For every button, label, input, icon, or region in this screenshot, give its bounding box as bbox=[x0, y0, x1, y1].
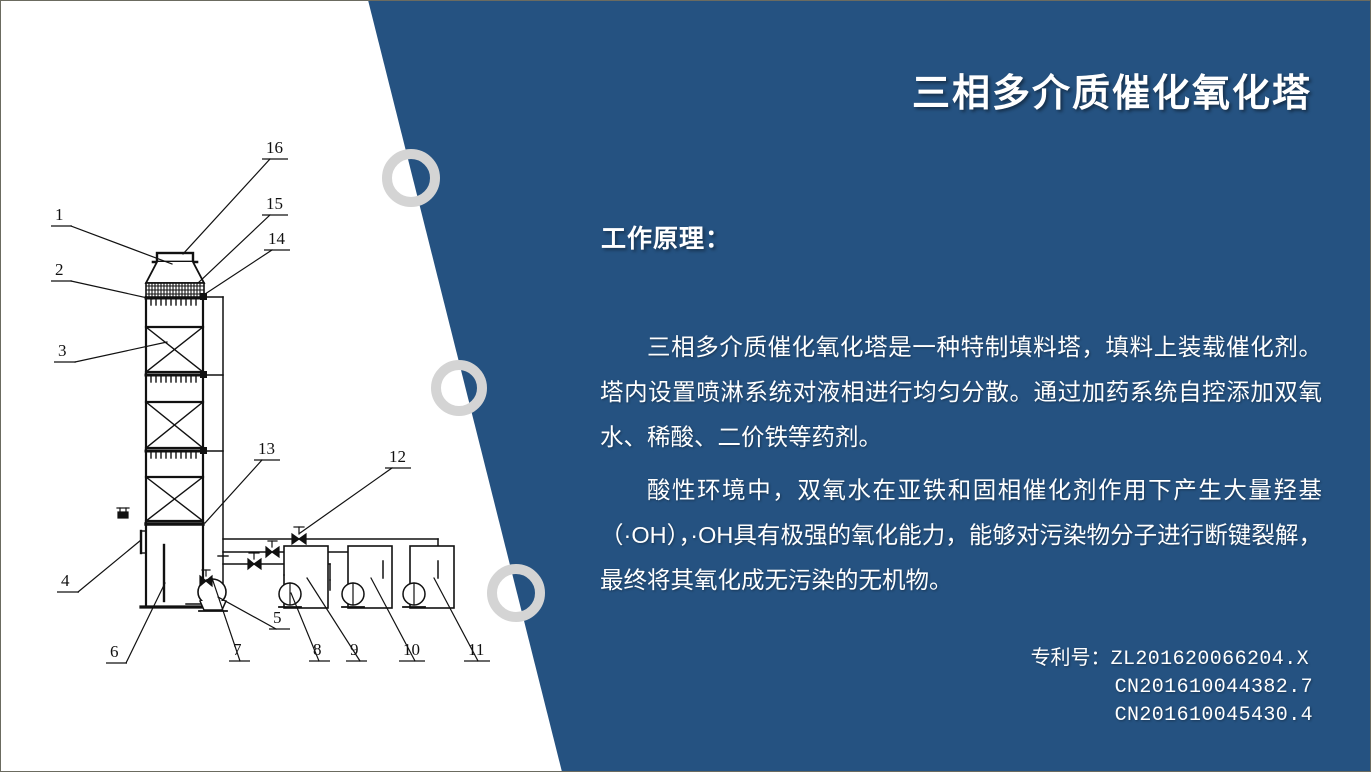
pipe-tee bbox=[200, 447, 207, 454]
process-flow-diagram: 1 2 3 4 5 6 7 8 9 10 11 12 13 14 15 16 bbox=[0, 0, 600, 772]
svg-text:5: 5 bbox=[273, 608, 282, 627]
diagram-label: 13 bbox=[254, 439, 280, 460]
svg-text:3: 3 bbox=[58, 341, 67, 360]
spray-header bbox=[146, 375, 204, 382]
diagram-label: 8 bbox=[309, 640, 330, 661]
diagram-label: 11 bbox=[464, 640, 490, 661]
diagram-label: 15 bbox=[262, 194, 288, 215]
svg-text:10: 10 bbox=[403, 640, 420, 659]
body-paragraph-1: 三相多介质催化氧化塔是一种特制填料塔，填料上装载催化剂。塔内设置喷淋系统对液相进… bbox=[600, 325, 1322, 460]
patent-numbers: 专利号：ZL201620066204.X CN201610044382.7 CN… bbox=[1031, 645, 1313, 729]
patent-row-3: CN201610045430.4 bbox=[1031, 701, 1313, 729]
diagram-label: 3 bbox=[54, 341, 76, 362]
tower-conical-head bbox=[146, 262, 204, 283]
svg-text:2: 2 bbox=[55, 260, 64, 279]
patent-number: ZL201620066204.X bbox=[1111, 648, 1309, 671]
svg-text:1: 1 bbox=[55, 205, 64, 224]
diagram-label: 5 bbox=[269, 608, 290, 629]
packing-bed bbox=[146, 327, 203, 372]
patent-label: 专利号： bbox=[1031, 647, 1111, 669]
svg-text:12: 12 bbox=[389, 447, 406, 466]
pipe-tee bbox=[200, 371, 207, 378]
valve-icon bbox=[266, 541, 279, 557]
svg-text:16: 16 bbox=[266, 138, 283, 157]
svg-text:8: 8 bbox=[313, 640, 322, 659]
spray-header bbox=[146, 451, 204, 458]
packing-bed bbox=[146, 402, 203, 448]
patent-row-1: 专利号：ZL201620066204.X bbox=[1031, 645, 1313, 673]
packing-bed bbox=[146, 477, 203, 521]
patent-row-2: CN201610044382.7 bbox=[1031, 673, 1313, 701]
inlet-fitting-icon bbox=[117, 508, 129, 518]
diagram-label: 12 bbox=[385, 447, 411, 468]
diagram-label: 2 bbox=[51, 260, 72, 281]
svg-text:4: 4 bbox=[61, 571, 70, 590]
section-heading: 工作原理： bbox=[601, 219, 731, 255]
svg-text:13: 13 bbox=[258, 439, 275, 458]
diagram-label: 9 bbox=[346, 640, 367, 661]
patent-number: CN201610045430.4 bbox=[1115, 704, 1313, 727]
slide-root: 1 2 3 4 5 6 7 8 9 10 11 12 13 14 15 16 三… bbox=[0, 0, 1371, 772]
body-text: 三相多介质催化氧化塔是一种特制填料塔，填料上装载催化剂。塔内设置喷淋系统对液相进… bbox=[600, 325, 1322, 611]
diagram-label: 16 bbox=[262, 138, 288, 159]
diagram-label: 6 bbox=[106, 642, 127, 663]
page-title: 三相多介质催化氧化塔 bbox=[640, 62, 1312, 117]
body-paragraph-2: 酸性环境中，双氧水在亚铁和固相催化剂作用下产生大量羟基（·OH），·OH具有极强… bbox=[600, 468, 1322, 603]
spray-header bbox=[146, 298, 204, 305]
svg-text:9: 9 bbox=[350, 640, 359, 659]
valve-icon bbox=[248, 553, 261, 569]
diagram-label: 4 bbox=[57, 571, 79, 592]
svg-text:15: 15 bbox=[266, 194, 283, 213]
svg-text:7: 7 bbox=[233, 640, 242, 659]
diagram-label: 14 bbox=[264, 229, 290, 250]
diagram-label: 7 bbox=[229, 640, 250, 661]
svg-text:11: 11 bbox=[468, 640, 484, 659]
svg-text:14: 14 bbox=[268, 229, 286, 248]
patent-number: CN201610044382.7 bbox=[1115, 676, 1313, 699]
svg-text:6: 6 bbox=[110, 642, 119, 661]
diagram-label: 1 bbox=[51, 205, 72, 226]
diagram-label: 10 bbox=[399, 640, 425, 661]
